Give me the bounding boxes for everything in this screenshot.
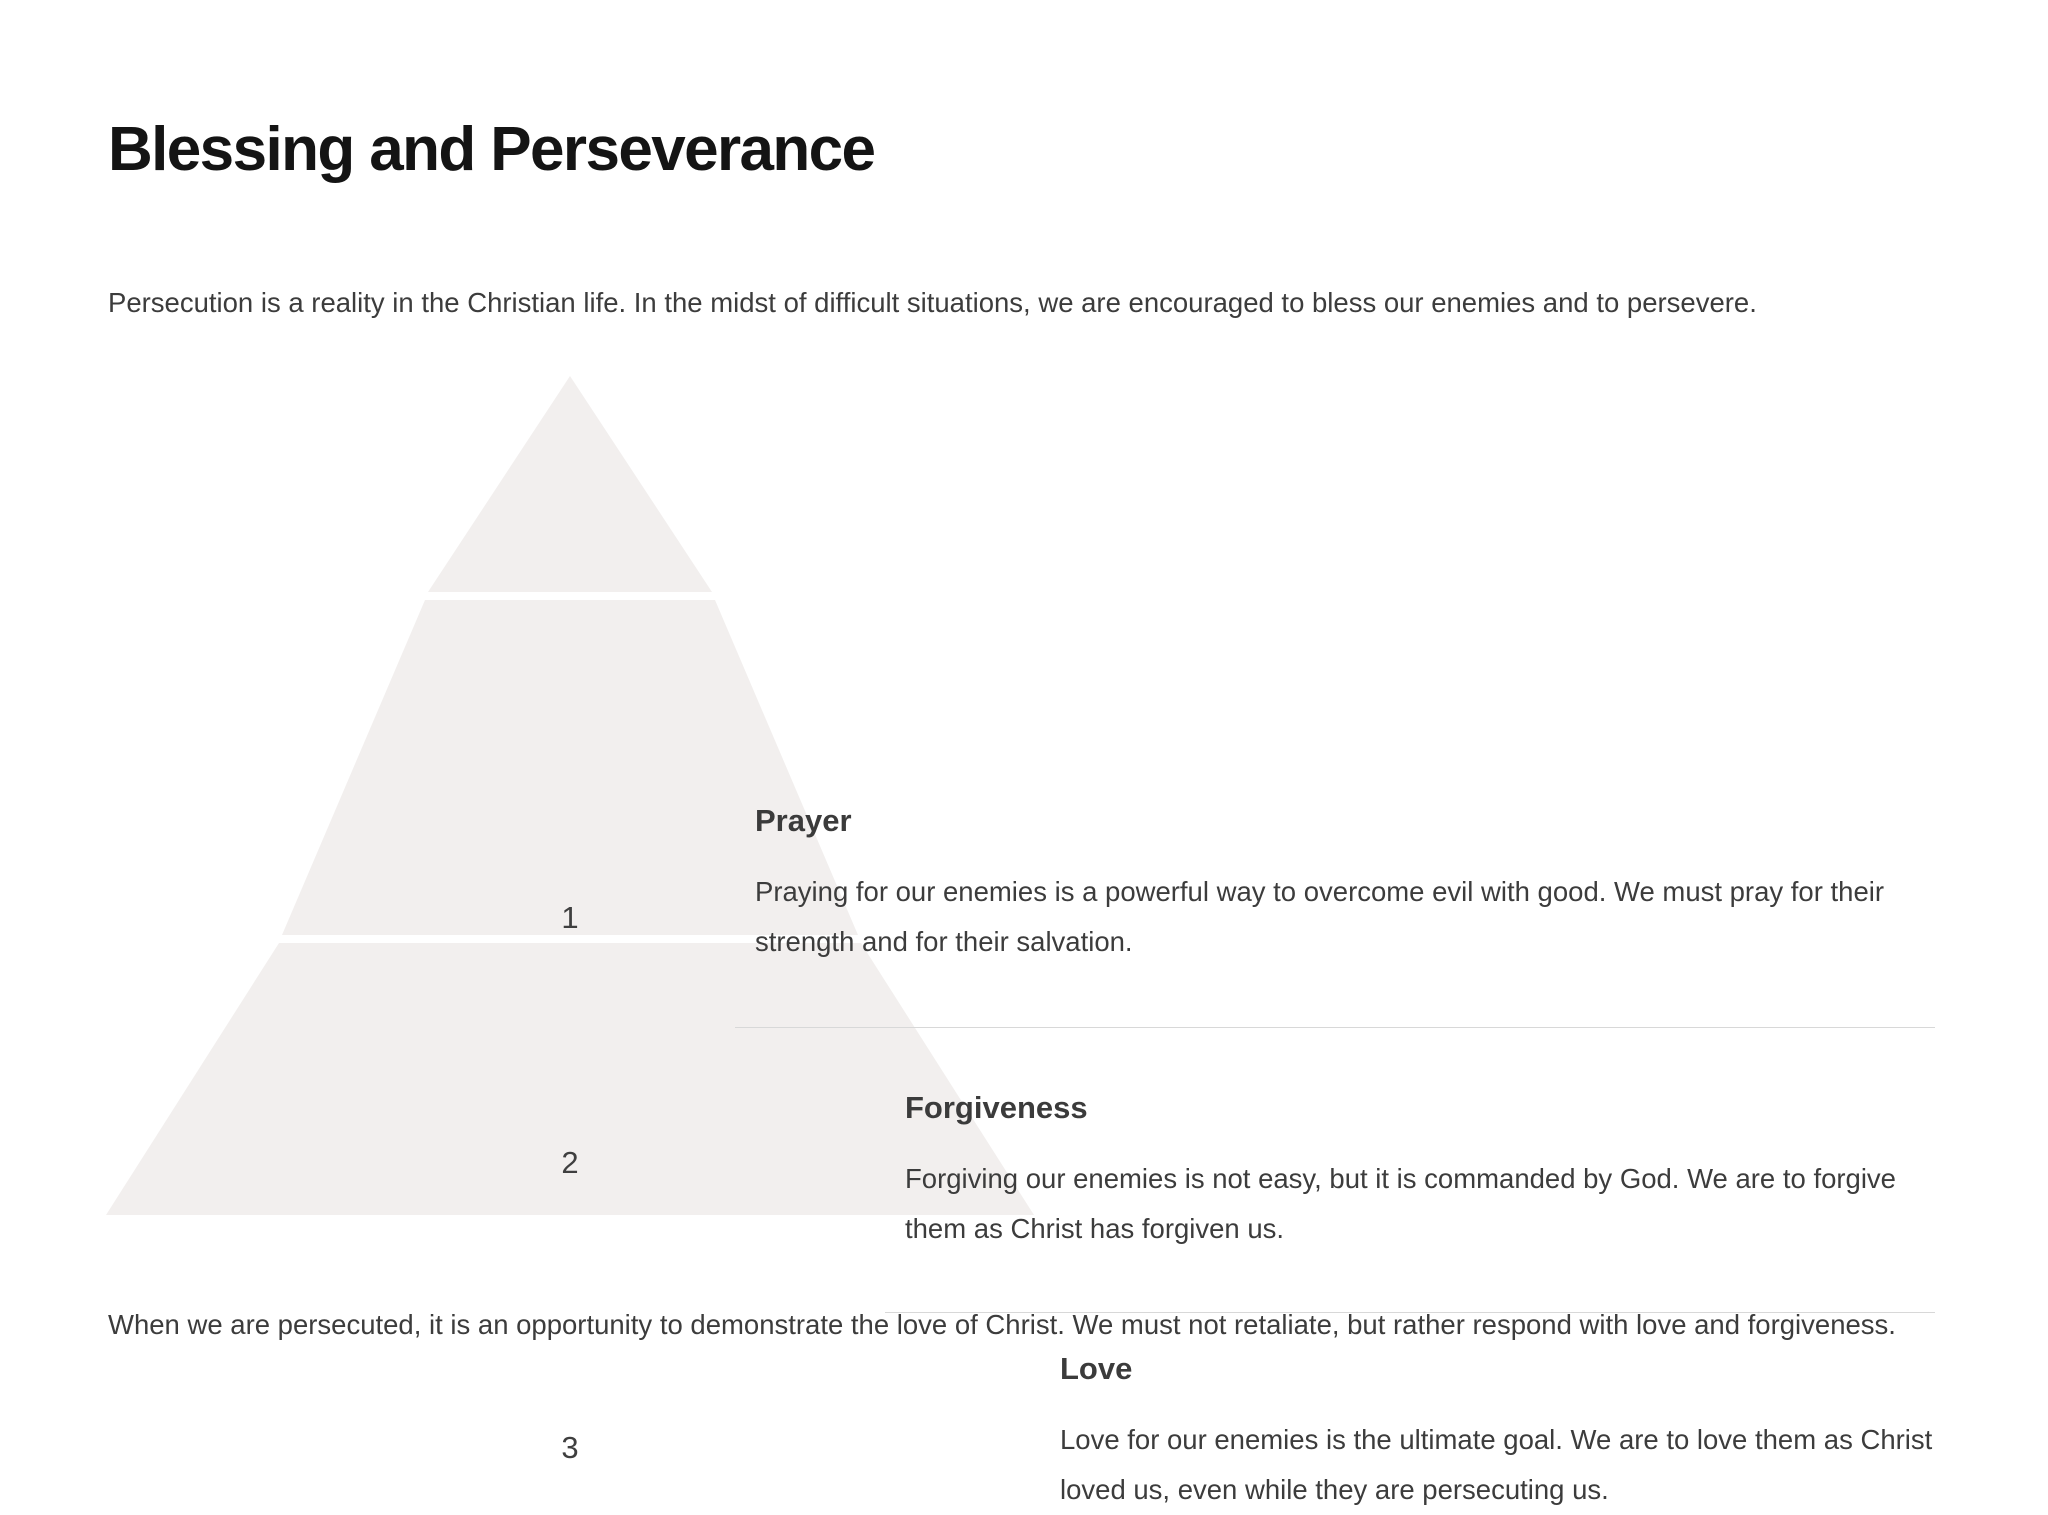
pyramid-level-1-content: Prayer Praying for our enemies is a powe…: [755, 802, 1885, 967]
pyramid-level-1-description: Praying for our enemies is a powerful wa…: [755, 867, 1885, 967]
pyramid-level-1-shape: [428, 376, 712, 592]
intro-paragraph: Persecution is a reality in the Christia…: [108, 276, 1958, 329]
pyramid-level-3-title: Love: [1060, 1350, 1940, 1387]
pyramid-diagram: 1 2 3 Prayer Praying for our enemies is …: [0, 370, 2048, 1230]
document-page: Blessing and Perseverance Persecution is…: [0, 0, 2048, 1434]
pyramid-level-3-description: Love for our enemies is the ultimate goa…: [1060, 1415, 1940, 1515]
pyramid-level-2-title: Forgiveness: [905, 1089, 1915, 1126]
pyramid-level-2-description: Forgiving our enemies is not easy, but i…: [905, 1154, 1915, 1254]
pyramid-level-1-number: 1: [525, 900, 615, 936]
pyramid-level-2-content: Forgiveness Forgiving our enemies is not…: [905, 1089, 1915, 1254]
pyramid-level-3-content: Love Love for our enemies is the ultimat…: [1060, 1350, 1940, 1515]
pyramid-level-2-number: 2: [525, 1145, 615, 1181]
page-title: Blessing and Perseverance: [108, 116, 874, 184]
outro-paragraph: When we are persecuted, it is an opportu…: [108, 1298, 1958, 1351]
pyramid-level-1-title: Prayer: [755, 802, 1885, 839]
level-divider-1: [735, 1027, 1935, 1028]
pyramid-level-3-number: 3: [525, 1430, 615, 1466]
